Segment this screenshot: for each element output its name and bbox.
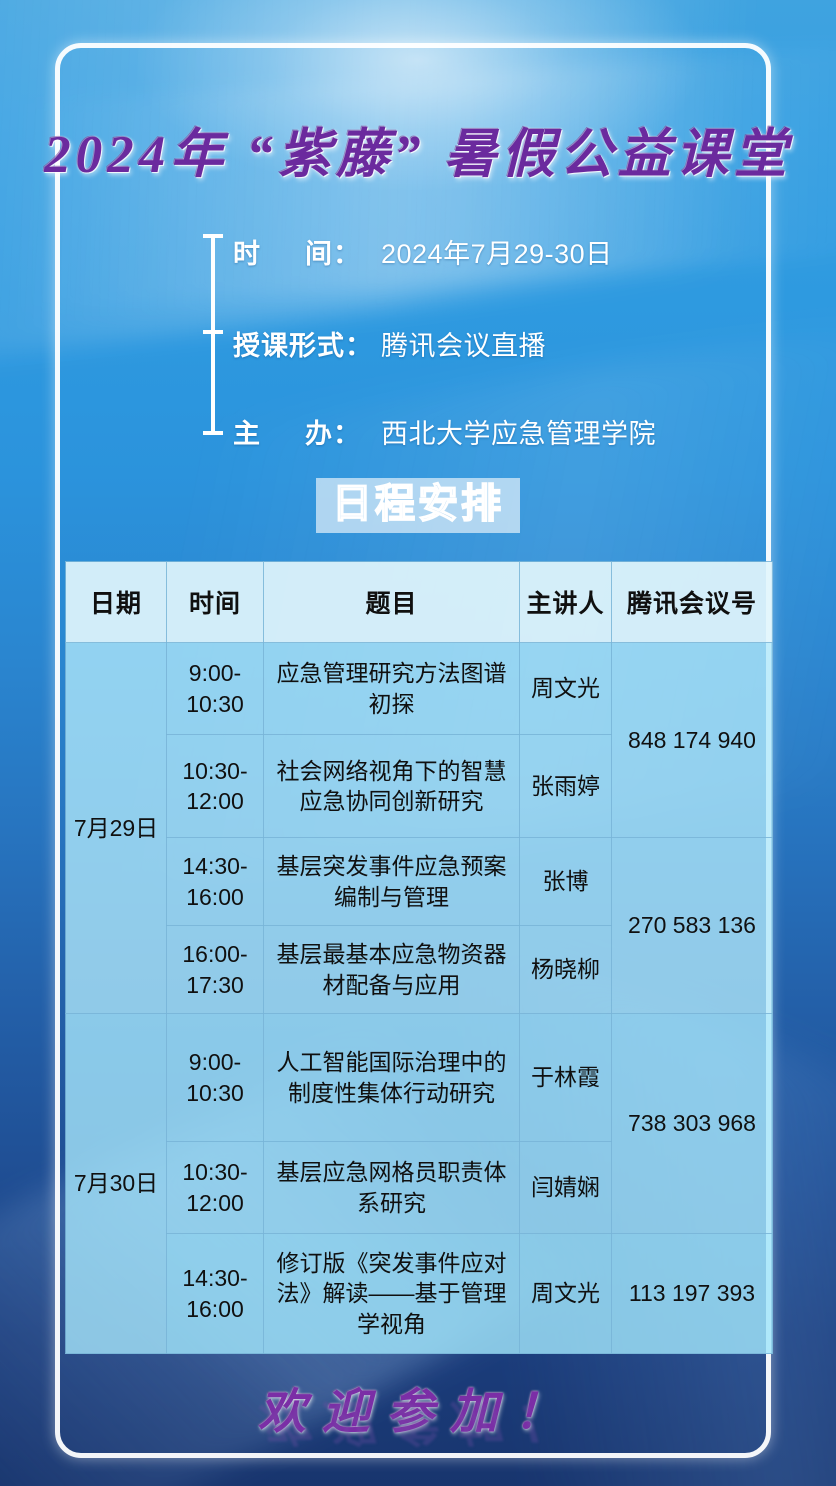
cell-speaker: 闫婧娴 (520, 1142, 612, 1234)
cell-time: 9:00-10:30 (167, 643, 264, 735)
poster-canvas: 2024年 “紫藤” 暑假公益课堂 时间： 2024年7月29-30日 授课形式… (0, 0, 836, 1486)
bracket-marker-icon (200, 232, 226, 437)
column-header-time: 时间 (167, 562, 264, 643)
cell-speaker: 周文光 (520, 1234, 612, 1354)
cell-speaker: 周文光 (520, 643, 612, 735)
cell-topic: 基层最基本应急物资器材配备与应用 (264, 926, 520, 1014)
cell-time: 14:30-16:00 (167, 838, 264, 926)
cell-topic: 应急管理研究方法图谱初探 (264, 643, 520, 735)
schedule-table-body: 7月29日9:00-10:30应急管理研究方法图谱初探周文光848 174 94… (66, 643, 773, 1354)
table-row: 7月29日9:00-10:30应急管理研究方法图谱初探周文光848 174 94… (66, 643, 773, 735)
cell-date: 7月30日 (66, 1014, 167, 1354)
cell-meeting-id: 738 303 968 (612, 1014, 773, 1234)
cell-time: 10:30-12:00 (167, 1142, 264, 1234)
cell-time: 14:30-16:00 (167, 1234, 264, 1354)
info-rows: 时间： 2024年7月29-30日 授课形式： 腾讯会议直播 主办： 西北大学应… (233, 232, 793, 500)
cell-time: 9:00-10:30 (167, 1014, 264, 1142)
cell-meeting-id: 848 174 940 (612, 643, 773, 838)
info-label-format: 授课形式： (233, 324, 381, 363)
column-header-topic: 题目 (264, 562, 520, 643)
cell-speaker: 于林霞 (520, 1014, 612, 1142)
info-label-time: 时间： (233, 232, 381, 271)
info-label-organizer: 主办： (233, 412, 381, 451)
schedule-table: 日期 时间 题目 主讲人 腾讯会议号 7月29日9:00-10:30应急管理研究… (65, 561, 773, 1354)
footer-welcome-text: 欢迎参加！ (0, 1372, 836, 1442)
section-heading-schedule: 日程安排 (316, 478, 520, 533)
table-header-row: 日期 时间 题目 主讲人 腾讯会议号 (66, 562, 773, 643)
column-header-meeting-id: 腾讯会议号 (612, 562, 773, 643)
info-value-format: 腾讯会议直播 (381, 324, 546, 363)
table-row: 14:30-16:00基层突发事件应急预案编制与管理张博270 583 136 (66, 838, 773, 926)
info-row-format: 授课形式： 腾讯会议直播 (233, 324, 793, 412)
info-row-time: 时间： 2024年7月29-30日 (233, 232, 793, 324)
column-header-speaker: 主讲人 (520, 562, 612, 643)
schedule-table-head: 日期 时间 题目 主讲人 腾讯会议号 (66, 562, 773, 643)
cell-time: 10:30-12:00 (167, 735, 264, 838)
table-row: 14:30-16:00修订版《突发事件应对法》解读——基于管理学视角周文光113… (66, 1234, 773, 1354)
cell-meeting-id: 113 197 393 (612, 1234, 773, 1354)
cell-topic: 社会网络视角下的智慧应急协同创新研究 (264, 735, 520, 838)
table-row: 7月30日9:00-10:30人工智能国际治理中的制度性集体行动研究于林霞738… (66, 1014, 773, 1142)
column-header-date: 日期 (66, 562, 167, 643)
cell-topic: 人工智能国际治理中的制度性集体行动研究 (264, 1014, 520, 1142)
cell-topic: 基层应急网格员职责体系研究 (264, 1142, 520, 1234)
poster-title: 2024年 “紫藤” 暑假公益课堂 (0, 112, 836, 188)
info-value-organizer: 西北大学应急管理学院 (381, 412, 656, 451)
info-block: 时间： 2024年7月29-30日 授课形式： 腾讯会议直播 主办： 西北大学应… (200, 232, 800, 437)
cell-speaker: 张雨婷 (520, 735, 612, 838)
cell-topic: 修订版《突发事件应对法》解读——基于管理学视角 (264, 1234, 520, 1354)
cell-speaker: 杨晓柳 (520, 926, 612, 1014)
cell-time: 16:00-17:30 (167, 926, 264, 1014)
cell-speaker: 张博 (520, 838, 612, 926)
cell-date: 7月29日 (66, 643, 167, 1014)
info-value-time: 2024年7月29-30日 (381, 232, 613, 271)
cell-topic: 基层突发事件应急预案编制与管理 (264, 838, 520, 926)
cell-meeting-id: 270 583 136 (612, 838, 773, 1014)
section-heading-wrap: 日程安排 (0, 478, 836, 533)
